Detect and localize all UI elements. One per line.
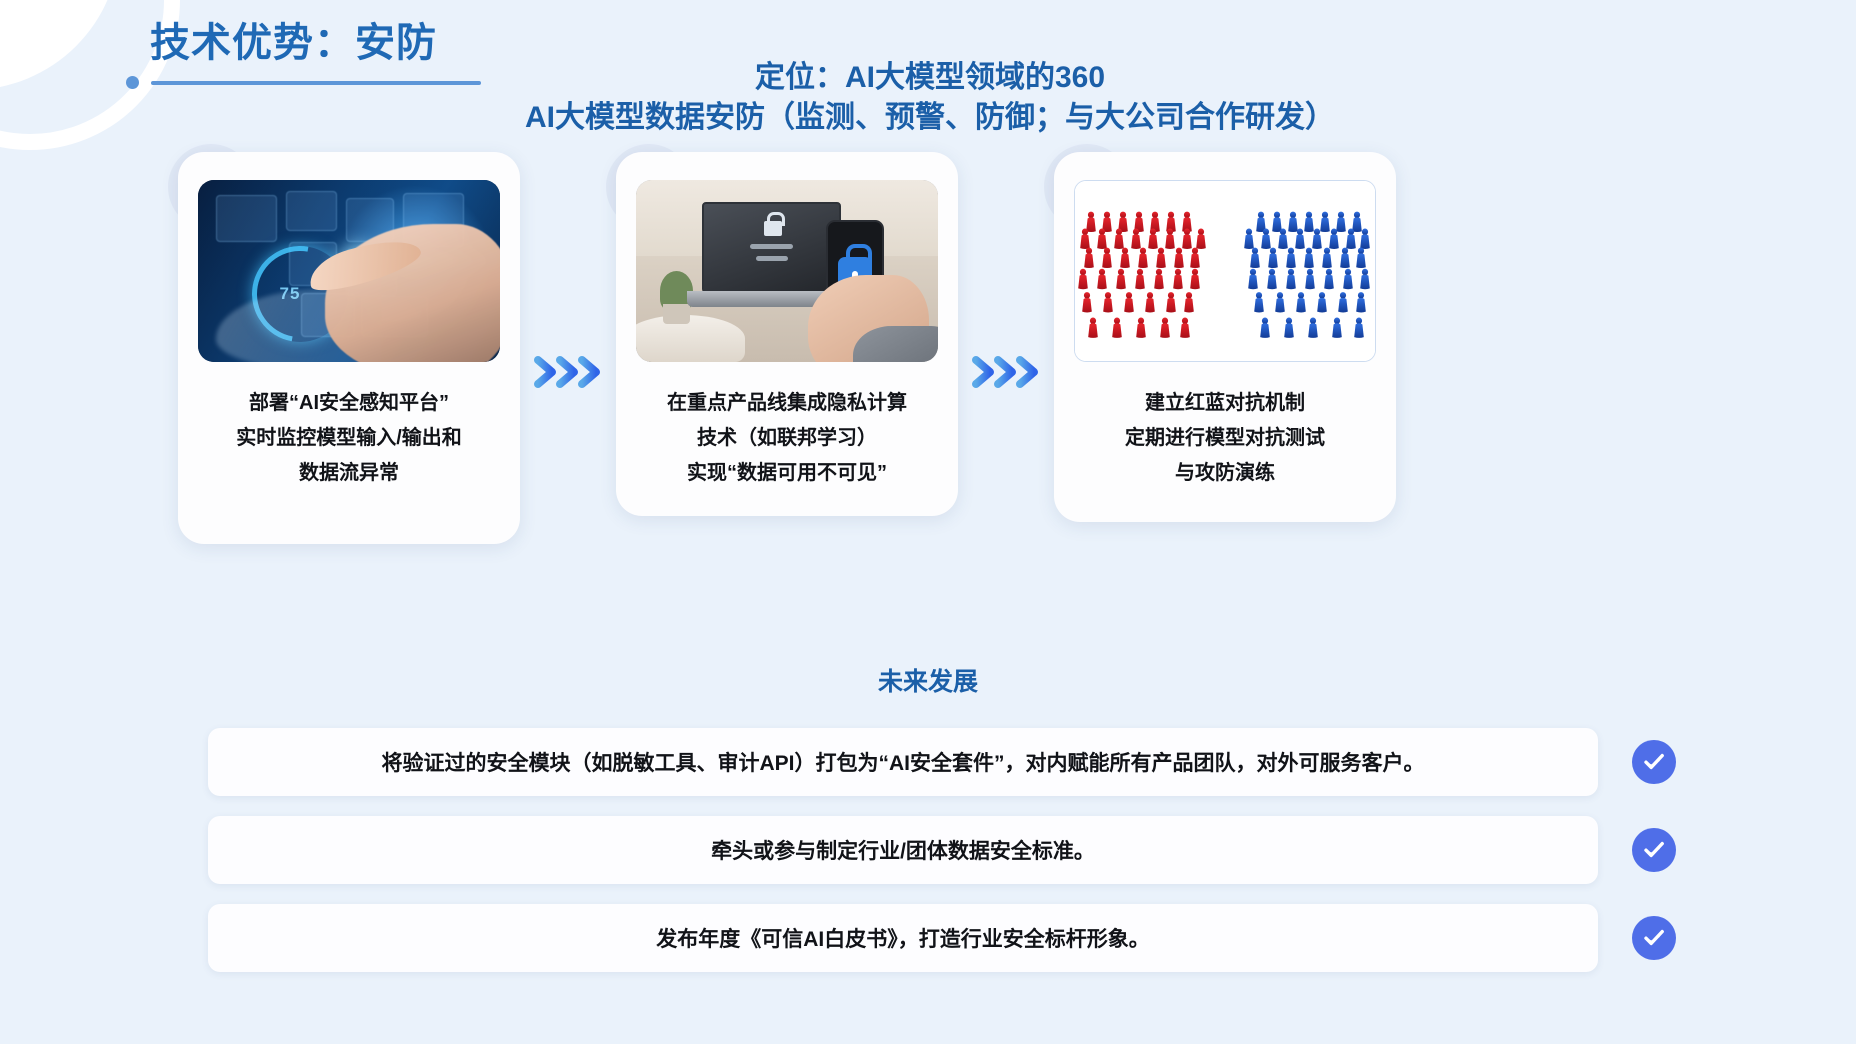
list-item[interactable]: 牵头或参与制定行业/团体数据安全标准。 (208, 816, 1676, 884)
triple-chevron-right-icon-1 (520, 352, 616, 392)
card-item-3[interactable]: 建立红蓝对抗机制 定期进行模型对抗测试 与攻防演练 (1054, 152, 1396, 522)
future-row-text-2: 牵头或参与制定行业/团体数据安全标准。 (711, 835, 1095, 865)
bullet-dot-icon (126, 76, 139, 89)
ai-security-dashboard-touch-photo: 75 (198, 180, 500, 362)
red-blue-team-crowd-photo (1074, 180, 1376, 362)
check-circle-icon-1[interactable] (1632, 740, 1676, 784)
card-3-caption-line-1: 建立红蓝对抗机制 (1074, 386, 1376, 421)
card-2-caption-line-1: 在重点产品线集成隐私计算 (636, 386, 938, 421)
future-row-bar-3[interactable]: 发布年度《可信AI白皮书》，打造行业安全标杆形象。 (208, 904, 1598, 972)
check-circle-icon-2[interactable] (1632, 828, 1676, 872)
cards-row: 75 部署“AI安全感知平台” 实时监控模型输入/输出和 数据流异常 (178, 152, 1678, 552)
future-row-text-1: 将验证过的安全模块（如脱敏工具、审计API）打包为“AI安全套件”，对内赋能所有… (381, 747, 1424, 777)
laptop-phone-privacy-lock-photo (636, 180, 938, 362)
section-heading-future: 未来发展 (0, 662, 1856, 698)
card-3-caption: 建立红蓝对抗机制 定期进行模型对抗测试 与攻防演练 (1074, 386, 1376, 491)
card-2-caption-line-2: 技术（如联邦学习） (636, 421, 938, 456)
card-2-caption: 在重点产品线集成隐私计算 技术（如联邦学习） 实现“数据可用不可见” (636, 386, 938, 491)
subtitle-line-2: AI大模型数据安防（监测、预警、防御；与大公司合作研发） (300, 98, 1560, 138)
future-rows-list: 将验证过的安全模块（如脱敏工具、审计API）打包为“AI安全套件”，对内赋能所有… (208, 728, 1676, 992)
card-1-caption: 部署“AI安全感知平台” 实时监控模型输入/输出和 数据流异常 (198, 386, 500, 491)
list-item[interactable]: 将验证过的安全模块（如脱敏工具、审计API）打包为“AI安全套件”，对内赋能所有… (208, 728, 1676, 796)
slide-subtitle: 定位：AI大模型领域的360 AI大模型数据安防（监测、预警、防御；与大公司合作… (300, 58, 1560, 137)
card-1-caption-line-2: 实时监控模型输入/输出和 (198, 421, 500, 456)
card-item-1[interactable]: 75 部署“AI安全感知平台” 实时监控模型输入/输出和 数据流异常 (178, 152, 520, 544)
card-3-caption-line-3: 与攻防演练 (1074, 456, 1376, 491)
card-3-caption-line-2: 定期进行模型对抗测试 (1074, 421, 1376, 456)
card-2-caption-line-3: 实现“数据可用不可见” (636, 456, 938, 491)
card-1-caption-line-3: 数据流异常 (198, 456, 500, 491)
list-item[interactable]: 发布年度《可信AI白皮书》，打造行业安全标杆形象。 (208, 904, 1676, 972)
subtitle-line-1: 定位：AI大模型领域的360 (300, 58, 1560, 98)
check-circle-icon-3[interactable] (1632, 916, 1676, 960)
future-row-bar-2[interactable]: 牵头或参与制定行业/团体数据安全标准。 (208, 816, 1598, 884)
future-row-text-3: 发布年度《可信AI白皮书》，打造行业安全标杆形象。 (656, 923, 1150, 953)
card-item-2[interactable]: 在重点产品线集成隐私计算 技术（如联邦学习） 实现“数据可用不可见” (616, 152, 958, 516)
future-row-bar-1[interactable]: 将验证过的安全模块（如脱敏工具、审计API）打包为“AI安全套件”，对内赋能所有… (208, 728, 1598, 796)
card-1-caption-line-1: 部署“AI安全感知平台” (198, 386, 500, 421)
triple-chevron-right-icon-2 (958, 352, 1054, 392)
